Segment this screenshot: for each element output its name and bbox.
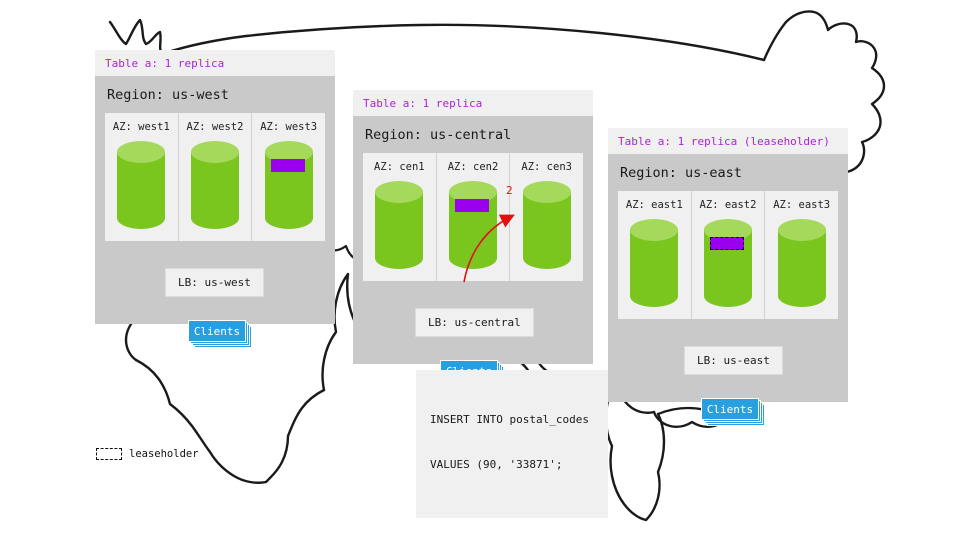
diagram-canvas: Table a: 1 replica Region: us-west AZ: w… [0,0,960,540]
az-label: AZ: west2 [187,121,244,133]
region-replica-label: Table a: 1 replica [95,50,335,76]
az-cell-west1[interactable]: AZ: west1 [105,113,178,241]
region-replica-label: Table a: 1 replica (leaseholder) [608,128,848,154]
az-cell-west2[interactable]: AZ: west2 [178,113,252,241]
region-title: Region: us-central [363,116,583,153]
az-label: AZ: east1 [626,199,683,211]
leaseholder-chip-east2 [710,237,744,250]
legend: leaseholder [96,448,199,460]
node-cylinder-east1[interactable] [628,217,680,309]
region-title: Region: us-east [618,154,838,191]
region-title: Region: us-west [105,76,325,113]
az-label: AZ: cen1 [374,161,425,173]
az-cell-west3[interactable]: AZ: west3 [251,113,325,241]
node-cylinder-cen1[interactable] [373,179,425,271]
region-panel-us-east: Table a: 1 replica (leaseholder) Region:… [608,128,848,402]
az-row: AZ: west1 AZ: west2 [105,113,325,241]
az-label: AZ: west3 [260,121,317,133]
clients-stack-us-east[interactable]: Clients [701,398,765,422]
legend-label: leaseholder [129,448,199,460]
az-row: AZ: east1 AZ: east2 [618,191,838,319]
node-cylinder-east2[interactable] [702,217,754,309]
az-label: AZ: west1 [113,121,170,133]
region-replica-label: Table a: 1 replica [353,90,593,116]
node-cylinder-west2[interactable] [189,139,241,231]
node-cylinder-west1[interactable] [115,139,167,231]
node-cylinder-west3[interactable] [263,139,315,231]
az-cell-east1[interactable]: AZ: east1 [618,191,691,319]
az-label: AZ: east3 [773,199,830,211]
az-label: AZ: east2 [700,199,757,211]
clients-label: Clients [701,398,759,420]
region-panel-us-west: Table a: 1 replica Region: us-west AZ: w… [95,50,335,324]
replica-chip-west3 [271,159,305,172]
az-label: AZ: cen3 [521,161,572,173]
az-label: AZ: cen2 [448,161,499,173]
sql-statement-box: INSERT INTO postal_codes VALUES (90, '33… [416,370,608,518]
arrow-step-label: 2 [506,184,513,197]
request-routing-arrow: 2 [420,180,540,290]
load-balancer-us-west[interactable]: LB: us-west [165,268,264,297]
load-balancer-us-central[interactable]: LB: us-central [415,308,534,337]
load-balancer-us-east[interactable]: LB: us-east [684,346,783,375]
az-cell-east3[interactable]: AZ: east3 [764,191,838,319]
sql-line-2: VALUES (90, '33871'; [430,457,594,472]
node-cylinder-east3[interactable] [776,217,828,309]
leaseholder-swatch-icon [96,448,122,460]
clients-stack-us-west[interactable]: Clients [188,320,252,344]
sql-line-1: INSERT INTO postal_codes [430,412,594,427]
clients-label: Clients [188,320,246,342]
az-cell-east2[interactable]: AZ: east2 [691,191,765,319]
